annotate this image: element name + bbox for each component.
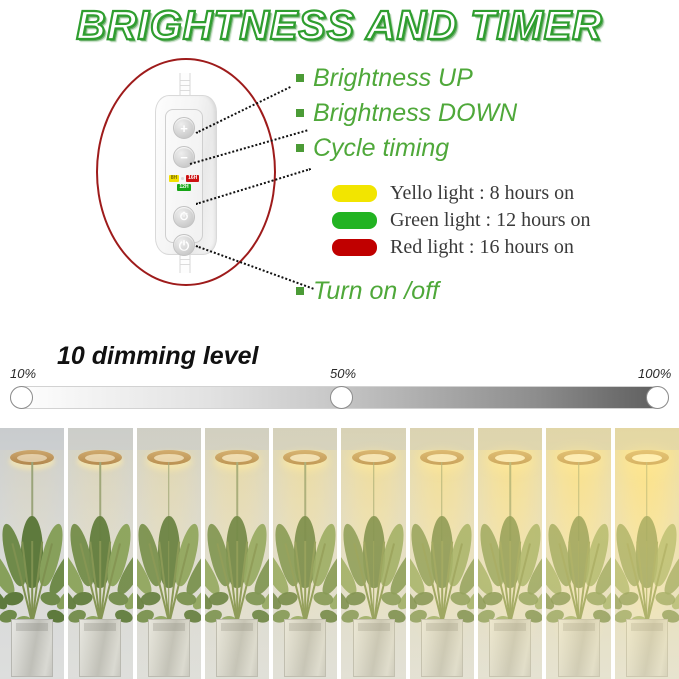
bullet-square-icon xyxy=(296,287,304,295)
dimming-knob-50[interactable] xyxy=(330,386,353,409)
led-12h: 12H xyxy=(177,184,190,191)
legend-item-yellow: Yello light : 8 hours on xyxy=(332,180,591,207)
page-title: BRIGHTNESS AND TIMER xyxy=(0,2,679,49)
red-swatch-icon xyxy=(332,239,377,256)
ring-light-inner xyxy=(632,454,662,462)
power-button[interactable]: ⏻ xyxy=(173,234,195,256)
brightness-step-8 xyxy=(478,428,542,679)
brightness-up-button[interactable]: + xyxy=(173,117,195,139)
controller-panel: + − 8H16H 12H ⏱ ⏻ xyxy=(165,109,203,243)
legend-label: Yello light : 8 hours on xyxy=(390,182,574,205)
ring-light-inner xyxy=(222,454,252,462)
bullet-square-icon xyxy=(296,109,304,117)
plant-pot xyxy=(421,619,463,677)
brightness-step-5 xyxy=(273,428,337,679)
led-8h: 8H xyxy=(169,175,179,182)
plant-pot xyxy=(558,619,600,677)
bullet-square-icon xyxy=(296,144,304,152)
dimming-knob-100[interactable] xyxy=(646,386,669,409)
dimming-tick-50: 50% xyxy=(330,366,356,381)
ring-light-inner xyxy=(427,454,457,462)
plant-pot xyxy=(353,619,395,677)
plant-pot xyxy=(79,619,121,677)
brightness-step-4 xyxy=(205,428,269,679)
callout-item-turn-on-off: Turn on /off xyxy=(296,275,439,307)
green-swatch-icon xyxy=(332,212,377,229)
callout-list: Brightness UP Brightness DOWN Cycle timi… xyxy=(296,62,679,167)
ring-light-inner xyxy=(495,454,525,462)
callout-item-brightness-down: Brightness DOWN xyxy=(296,97,679,129)
ring-light-inner xyxy=(154,454,184,462)
callout-label: Brightness DOWN xyxy=(313,97,517,129)
led-16h: 16H xyxy=(186,175,199,182)
plant-pot xyxy=(216,619,258,677)
plant-pot xyxy=(148,619,190,677)
legend-label: Red light : 16 hours on xyxy=(390,236,574,259)
dimming-tick-100: 100% xyxy=(638,366,671,381)
brightness-comparison-strip xyxy=(0,428,679,679)
controller-device: + − 8H16H 12H ⏱ ⏻ xyxy=(152,73,218,273)
led-separator-dot xyxy=(181,177,184,180)
dimming-title: 10 dimming level xyxy=(57,342,258,371)
yellow-swatch-icon xyxy=(332,185,377,202)
ring-light-inner xyxy=(564,454,594,462)
ring-light-inner xyxy=(85,454,115,462)
ring-light-inner xyxy=(17,454,47,462)
plant-pot xyxy=(284,619,326,677)
product-infographic: BRIGHTNESS AND TIMER + − 8H16H 12H xyxy=(0,0,679,679)
legend-item-red: Red light : 16 hours on xyxy=(332,234,591,261)
callout-label: Turn on /off xyxy=(313,275,439,307)
bullet-square-icon xyxy=(296,74,304,82)
callout-item-brightness-up: Brightness UP xyxy=(296,62,679,94)
timer-legend: Yello light : 8 hours on Green light : 1… xyxy=(332,180,591,261)
brightness-step-7 xyxy=(410,428,474,679)
brightness-step-6 xyxy=(341,428,405,679)
ring-light-inner xyxy=(290,454,320,462)
brightness-step-2 xyxy=(68,428,132,679)
callout-label: Brightness UP xyxy=(313,62,473,94)
controller-body: + − 8H16H 12H ⏱ ⏻ xyxy=(155,95,217,255)
brightness-step-1 xyxy=(0,428,64,679)
power-icon: ⏻ xyxy=(179,239,189,252)
callout-label: Cycle timing xyxy=(313,132,449,164)
brightness-step-10 xyxy=(615,428,679,679)
plant-pot xyxy=(489,619,531,677)
plant-pot xyxy=(626,619,668,677)
callout-item-cycle-timing: Cycle timing xyxy=(296,132,679,164)
brightness-down-button[interactable]: − xyxy=(173,146,195,168)
legend-label: Green light : 12 hours on xyxy=(390,209,591,232)
dimming-knob-10[interactable] xyxy=(10,386,33,409)
dimming-tick-10: 10% xyxy=(10,366,36,381)
plus-icon: + xyxy=(180,122,188,135)
ring-light-inner xyxy=(359,454,389,462)
brightness-step-9 xyxy=(546,428,610,679)
legend-item-green: Green light : 12 hours on xyxy=(332,207,591,234)
brightness-step-3 xyxy=(137,428,201,679)
timer-led-group: 8H16H 12H xyxy=(168,175,200,191)
minus-icon: − xyxy=(180,151,188,164)
timer-icon: ⏱ xyxy=(180,212,189,223)
plant-pot xyxy=(11,619,53,677)
cycle-timing-button[interactable]: ⏱ xyxy=(173,206,195,228)
